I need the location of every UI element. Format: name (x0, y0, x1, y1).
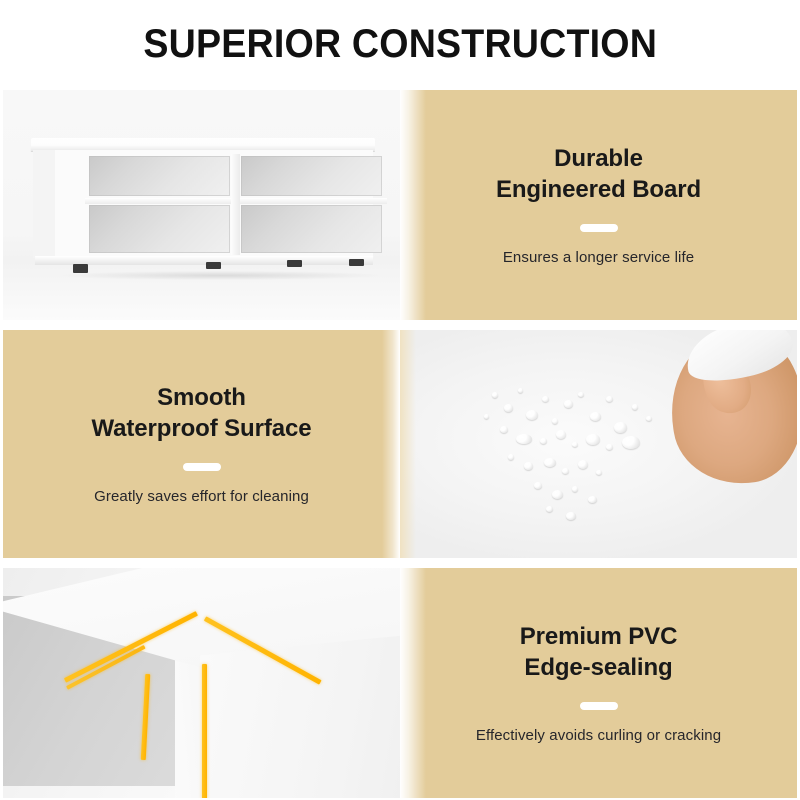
text-panel-smooth-waterproof-surface: Smooth Waterproof Surface Greatly saves … (3, 330, 400, 558)
panel-heading: Smooth Waterproof Surface (73, 383, 329, 444)
compartment-top-left (89, 156, 230, 196)
divider-pill (580, 224, 618, 232)
feature-row-smooth-waterproof-surface: Smooth Waterproof Surface Greatly saves … (3, 330, 797, 558)
tv-stand-illustration (3, 90, 400, 320)
feature-panel-grid: Durable Engineered Board Ensures a longe… (3, 90, 797, 798)
panel-heading-line2: Edge-sealing (524, 654, 672, 681)
water-droplet (540, 438, 547, 444)
water-droplet (552, 418, 558, 424)
compartment-top-right (241, 156, 382, 196)
edge-sealing-illustration (3, 568, 400, 798)
water-droplet (614, 422, 627, 433)
water-droplet (632, 404, 638, 410)
stand-carcass (33, 150, 373, 258)
text-panel-premium-pvc-edge-sealing: Premium PVC Edge-sealing Effectively avo… (400, 568, 797, 798)
water-droplet (484, 414, 489, 419)
compartment-bottom-right (241, 205, 382, 253)
water-droplet (572, 486, 578, 492)
water-droplet (552, 490, 563, 499)
water-droplet (572, 442, 578, 447)
water-droplet (508, 454, 514, 460)
divider-pill (580, 702, 618, 710)
stand-foot (287, 260, 302, 267)
panel-heading-line2: Waterproof Surface (91, 415, 311, 442)
water-droplet (606, 396, 613, 402)
title-bar: SUPERIOR CONSTRUCTION (0, 0, 800, 88)
panel-subtitle: Effectively avoids curling or cracking (462, 727, 735, 744)
water-droplet (588, 496, 597, 503)
panel-subtitle: Ensures a longer service life (489, 249, 708, 266)
feature-row-durable-engineered-board: Durable Engineered Board Ensures a longe… (3, 90, 797, 320)
compartment-bottom-left (89, 205, 230, 253)
water-droplet (504, 404, 513, 412)
water-droplet (578, 392, 584, 397)
panel-heading: Premium PVC Edge-sealing (502, 622, 696, 683)
page-title: SUPERIOR CONSTRUCTION (143, 22, 657, 67)
water-droplet (562, 468, 569, 474)
divider-pill (183, 463, 221, 471)
water-droplet (578, 460, 588, 469)
water-droplet (500, 426, 508, 433)
tv-stand-body (31, 138, 375, 268)
water-droplet (590, 412, 601, 421)
panel-subtitle: Greatly saves effort for cleaning (80, 488, 323, 505)
image-waterproof-surface (400, 330, 797, 558)
water-droplet (546, 506, 553, 512)
water-droplet (622, 436, 640, 449)
water-droplet (492, 392, 498, 398)
image-edge-sealing (3, 568, 400, 798)
water-droplet (544, 458, 556, 467)
stand-foot (349, 259, 364, 266)
pvc-edge-band (202, 664, 207, 798)
panel-heading-line1: Durable (554, 145, 643, 172)
water-droplet (518, 388, 523, 393)
water-droplet (534, 482, 542, 489)
water-droplet (606, 444, 613, 450)
feature-row-premium-pvc-edge-sealing: Premium PVC Edge-sealing Effectively avo… (3, 568, 797, 798)
water-droplet (566, 512, 576, 520)
waterproof-surface-illustration (400, 330, 797, 558)
water-droplet (526, 410, 538, 420)
water-droplet (564, 400, 573, 408)
stand-foot (206, 262, 221, 269)
panel-heading-line1: Premium PVC (520, 623, 678, 650)
text-panel-durable-engineered-board: Durable Engineered Board Ensures a longe… (400, 90, 797, 320)
product-feature-infographic: SUPERIOR CONSTRUCTION (0, 0, 800, 800)
panel-heading-line2: Engineered Board (496, 176, 701, 203)
water-droplet (586, 434, 600, 445)
water-droplet (556, 430, 566, 439)
center-divider-panel (231, 154, 240, 255)
water-droplet (542, 396, 549, 402)
water-droplet (646, 416, 652, 421)
water-droplet (524, 462, 533, 470)
panel-heading-line1: Smooth (157, 384, 246, 411)
image-tv-stand (3, 90, 400, 320)
panel-heading: Durable Engineered Board (478, 144, 719, 205)
cabinet-front-face (200, 630, 400, 798)
water-droplet (516, 434, 532, 444)
water-droplet (596, 470, 602, 475)
floor-shadow (61, 271, 381, 280)
